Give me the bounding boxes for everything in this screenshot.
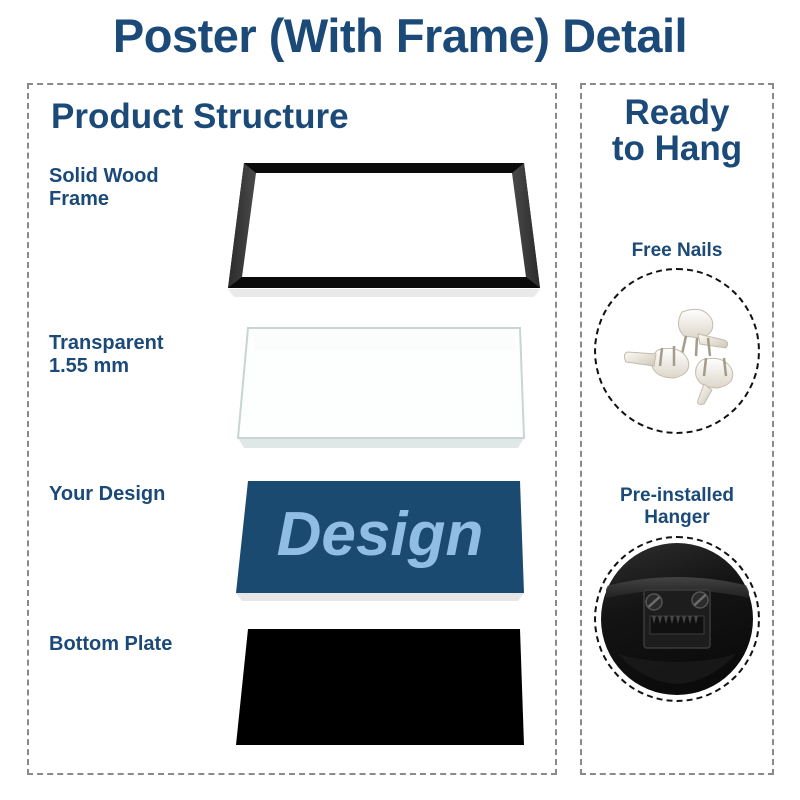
pre-installed-hanger-label: Pre-installed Hanger <box>582 485 772 530</box>
ready-to-hang-panel: Ready to Hang Free Nails <box>580 83 774 775</box>
layer-label-line2: 1.55 mm <box>49 355 163 378</box>
pre-installed-hanger-media <box>594 536 760 702</box>
transparent-sheet-illustration <box>224 320 544 465</box>
free-nails-media <box>594 268 760 434</box>
ready-to-hang-heading: Ready to Hang <box>582 95 772 167</box>
layer-label-solid-wood-frame: Solid Wood Frame <box>49 165 159 211</box>
layer-label-line2: Frame <box>49 188 159 211</box>
heading-line2: to Hang <box>582 131 772 167</box>
hanger-label-line1: Pre-installed <box>582 485 772 507</box>
page-title: Poster (With Frame) Detail <box>0 8 800 63</box>
layer-label-line1: Transparent <box>49 332 163 355</box>
free-nails-label-line1: Free Nails <box>582 240 772 262</box>
layer-label-transparent-sheet: Transparent 1.55 mm <box>49 332 163 378</box>
layer-label-line1: Bottom Plate <box>49 633 172 656</box>
product-structure-panel: Product Structure Solid Wood Frame <box>27 83 557 775</box>
heading-line1: Ready <box>582 95 772 131</box>
free-nails-item: Free Nails <box>582 240 772 434</box>
layer-row-transparent-sheet: Transparent 1.55 mm <box>29 320 555 475</box>
hanger-dashed-circle-icon <box>594 536 760 702</box>
layer-row-bottom-plate: Bottom Plate <box>29 623 555 773</box>
svg-text:Design: Design <box>277 500 484 569</box>
design-print-illustration: Design <box>224 475 544 615</box>
layer-label-line1: Solid Wood <box>49 165 159 188</box>
layer-row-your-design: Your Design Design <box>29 475 555 625</box>
layer-row-solid-wood-frame: Solid Wood Frame <box>29 157 555 317</box>
layer-label-your-design: Your Design <box>49 483 165 506</box>
bottom-plate-illustration <box>224 623 544 763</box>
wood-frame-illustration <box>224 157 544 307</box>
layer-label-bottom-plate: Bottom Plate <box>49 633 172 656</box>
hanger-label-line2: Hanger <box>582 507 772 529</box>
product-structure-heading: Product Structure <box>51 97 349 137</box>
pre-installed-hanger-item: Pre-installed Hanger <box>582 485 772 702</box>
layer-label-line1: Your Design <box>49 483 165 506</box>
free-nails-label: Free Nails <box>582 240 772 262</box>
nails-dashed-circle-icon <box>594 268 760 434</box>
